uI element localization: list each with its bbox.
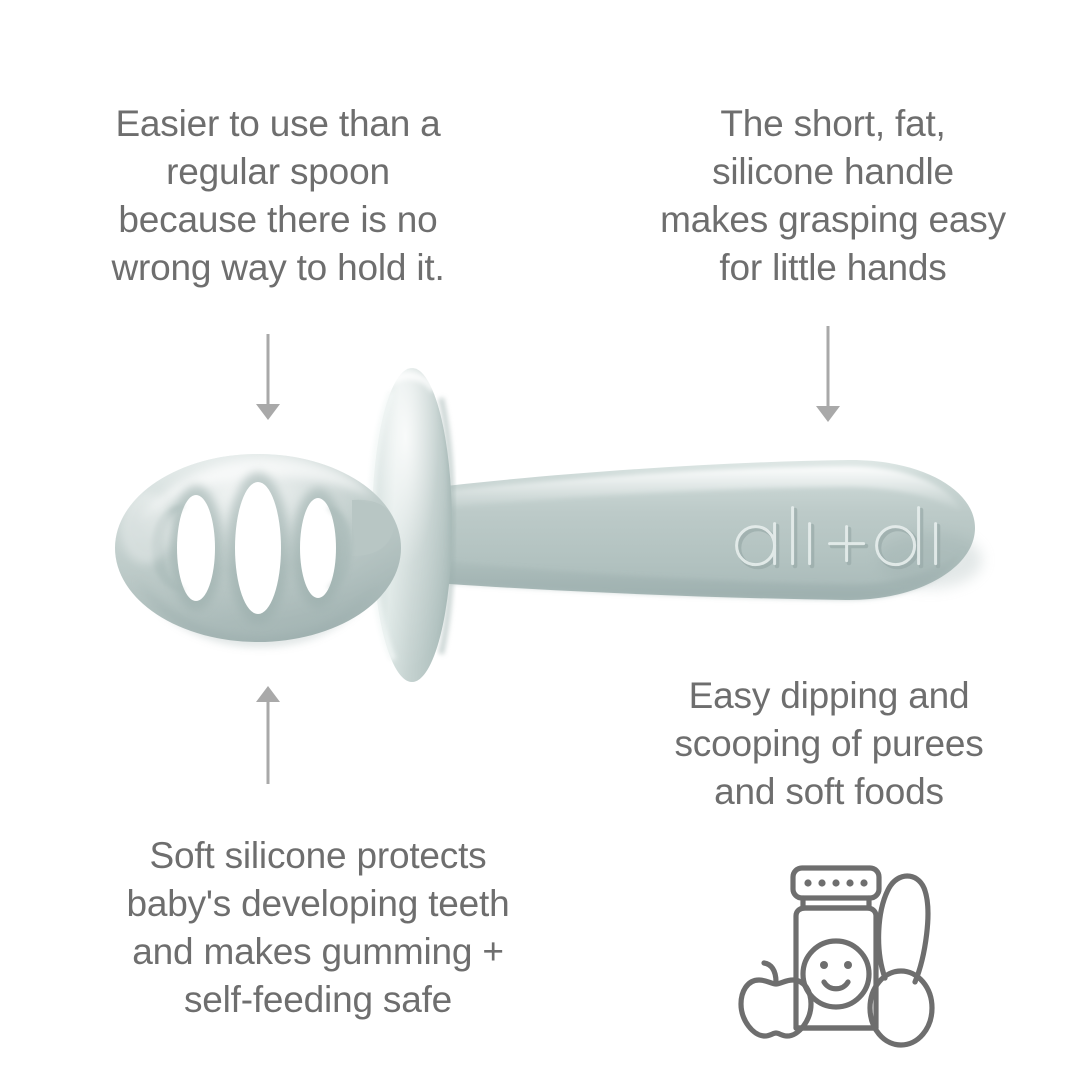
arrow-shaft [827,326,830,406]
infographic-canvas: Easier to use than a regular spoon becau… [0,0,1080,1080]
arrow-shaft [267,702,270,784]
arrow-down-icon-top-left [256,334,280,420]
callout-text-short-fat-handle: The short, fat, silicone handle makes gr… [618,100,1048,292]
callout-text-soft-silicone: Soft silicone protects baby's developing… [56,832,580,1024]
arrow-head [256,404,280,420]
brand-emboss-ali-oli [737,508,938,567]
arrow-head [256,686,280,702]
arrow-up-icon-bottom-left [256,686,280,784]
arrow-head [816,406,840,422]
arrow-shaft [267,334,270,404]
spoon-scoop-head [115,454,401,646]
spoon-choke-guard-disc [372,368,452,682]
callout-text-easy-dipping: Easy dipping and scooping of purees and … [622,672,1036,816]
callout-text-easier-to-use: Easier to use than a regular spoon becau… [58,100,498,292]
scoop-slots [169,472,344,624]
arrow-down-icon-top-right [816,326,840,422]
baby-food-jar-apple-spoon-icon [735,858,947,1054]
spoon-handle [395,460,982,600]
